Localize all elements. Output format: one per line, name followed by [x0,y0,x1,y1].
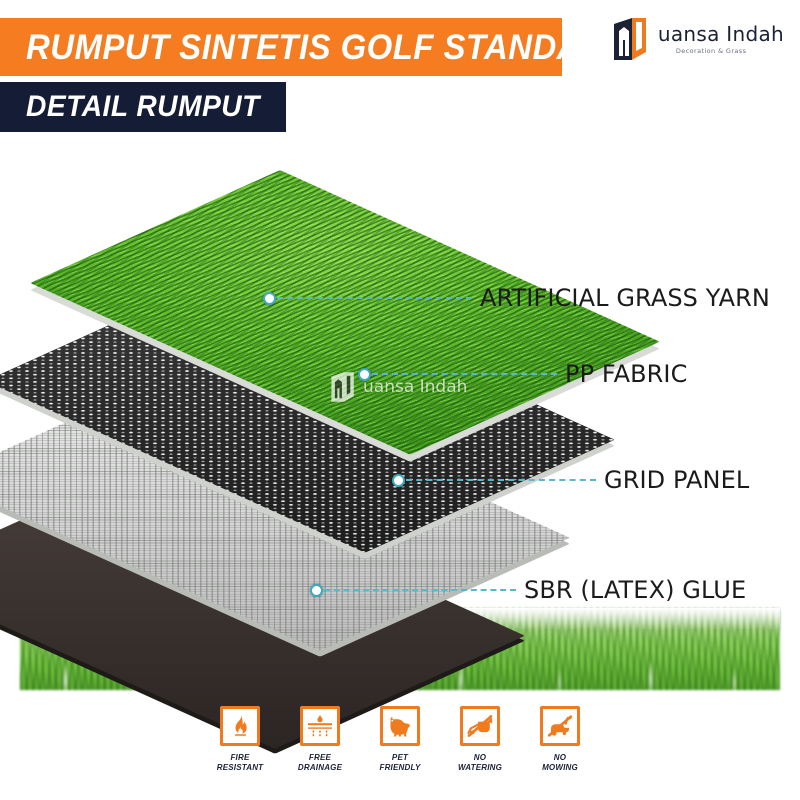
callout-grid-panel: GRID PANEL [392,470,749,490]
feature-item-pet-friendly: PET FRIENDLY [372,706,428,773]
callout-line [406,479,596,481]
brand-name: uansa Indah [658,24,784,45]
feature-item-no-mowing: NO MOWING [532,706,588,773]
brand-logo: uansa Indah Decoration & Grass [612,18,784,60]
callout-dot [263,292,276,305]
page-title-primary: RUMPUT SINTETIS GOLF STANDAR [0,18,562,76]
feature-caption-line2: MOWING [542,763,578,772]
nuansa-indah-logo-icon [612,18,652,60]
callout-label-grass-yarn: ARTIFICIAL GRASS YARN [480,284,770,312]
feature-strip: FIRE RESISTANT FREE DRAINAGE [0,706,800,800]
feature-icon-box [460,706,500,746]
layer-diagram: uansa Indah ARTIFICIAL GRASS YARN PP FAB… [0,140,800,700]
feature-caption-line2: RESISTANT [217,763,264,772]
feature-icon-box [380,706,420,746]
brand-wordmark: uansa Indah Decoration & Grass [658,24,784,55]
feature-icon-box [300,706,340,746]
callout-grass-yarn: ARTIFICIAL GRASS YARN [263,288,770,308]
callout-label-sbr-glue: SBR (LATEX) GLUE [524,576,746,604]
callout-line [277,297,472,299]
callout-label-grid-panel: GRID PANEL [604,466,749,494]
page-title-secondary: DETAIL RUMPUT [0,82,286,132]
feature-item-fire-resistant: FIRE RESISTANT [212,706,268,773]
feature-icon-box [220,706,260,746]
feature-caption-line1: NO [554,753,566,762]
brand-tagline: Decoration & Grass [676,47,747,55]
page-title-secondary-text: DETAIL RUMPUT [26,92,260,122]
feature-caption-line2: WATERING [458,763,502,772]
callout-dot [392,474,405,487]
header: RUMPUT SINTETIS GOLF STANDAR DETAIL RUMP… [0,0,800,140]
no-watering-icon [467,714,493,738]
feature-caption: NO MOWING [542,753,578,773]
drainage-icon [307,714,333,738]
feature-caption: PET FRIENDLY [379,753,420,773]
page-title-primary-text: RUMPUT SINTETIS GOLF STANDAR [26,30,605,65]
dog-icon [387,715,413,737]
callout-sbr-glue: SBR (LATEX) GLUE [310,580,746,600]
feature-caption: NO WATERING [458,753,502,773]
feature-item-free-drainage: FREE DRAINAGE [292,706,348,773]
feature-item-no-watering: NO WATERING [452,706,508,773]
callout-line [372,373,557,375]
feature-caption: FREE DRAINAGE [298,753,342,773]
callout-dot [358,368,371,381]
feature-caption-line1: FIRE [230,753,249,762]
feature-caption-line2: FRIENDLY [379,763,420,772]
feature-caption-line2: DRAINAGE [298,763,342,772]
callout-dot [310,584,323,597]
callout-line [324,589,516,591]
no-mowing-icon [547,714,573,738]
callout-pp-fabric: PP FABRIC [358,364,687,384]
feature-icon-box [540,706,580,746]
callout-label-pp-fabric: PP FABRIC [565,360,687,388]
feature-caption-line1: FREE [309,753,331,762]
fire-icon [228,714,252,738]
feature-caption-line1: PET [392,753,408,762]
feature-caption-line1: NO [474,753,486,762]
feature-caption: FIRE RESISTANT [217,753,264,773]
